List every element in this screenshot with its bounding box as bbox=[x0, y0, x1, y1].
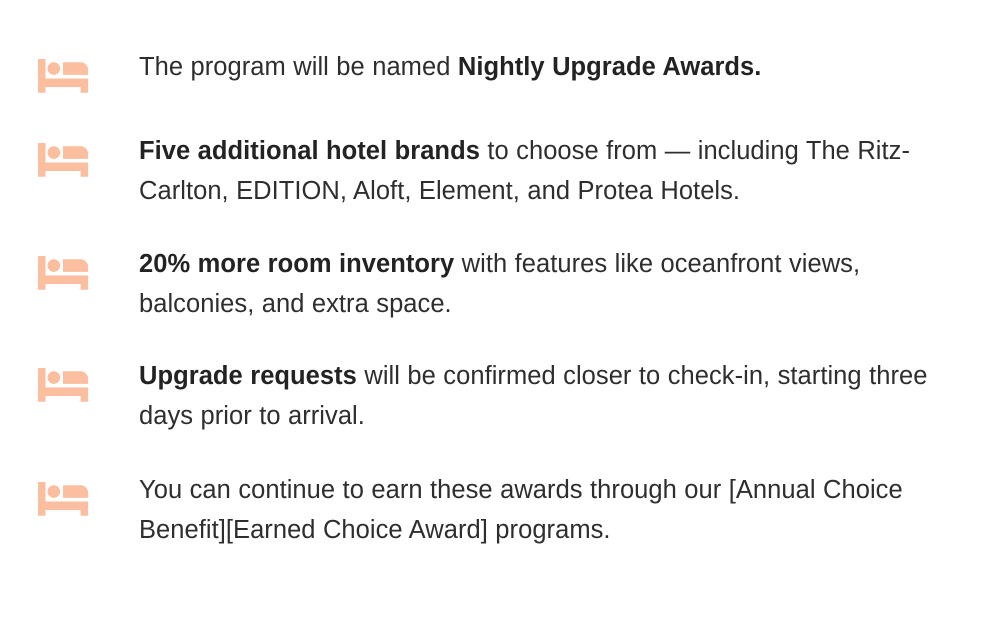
list-item-program-name: The program will be named Nightly Upgrad… bbox=[0, 47, 1000, 95]
bullet-text-earning-awards: You can continue to earn these awards th… bbox=[139, 470, 976, 550]
list-item-upgrade-requests: Upgrade requests will be confirmed close… bbox=[0, 356, 1000, 436]
bullet-emphasis: Upgrade requests bbox=[139, 362, 357, 390]
bullet-text-program-name: The program will be named Nightly Upgrad… bbox=[139, 47, 976, 87]
bed-icon bbox=[36, 366, 94, 404]
bullet-body: You can continue to earn these awards th… bbox=[139, 476, 903, 544]
bullet-emphasis: 20% more room inventory bbox=[139, 250, 454, 278]
list-item-room-inventory: 20% more room inventory with features li… bbox=[0, 244, 1000, 324]
bed-icon bbox=[36, 254, 94, 292]
list-item-earning-awards: You can continue to earn these awards th… bbox=[0, 470, 1000, 550]
bullet-text-room-inventory: 20% more room inventory with features li… bbox=[139, 244, 976, 324]
slide-canvas: The program will be named Nightly Upgrad… bbox=[0, 0, 1000, 621]
bullet-body: The program will be named bbox=[139, 53, 458, 81]
bullet-emphasis: Five additional hotel brands bbox=[139, 137, 480, 165]
bed-icon bbox=[36, 141, 94, 179]
bed-icon bbox=[36, 480, 94, 518]
bullet-list: The program will be named Nightly Upgrad… bbox=[0, 47, 1000, 550]
bed-icon bbox=[36, 57, 94, 95]
list-item-hotel-brands: Five additional hotel brands to choose f… bbox=[0, 131, 1000, 211]
bullet-text-upgrade-requests: Upgrade requests will be confirmed close… bbox=[139, 356, 976, 436]
bullet-text-hotel-brands: Five additional hotel brands to choose f… bbox=[139, 131, 976, 211]
bullet-emphasis: Nightly Upgrade Awards. bbox=[458, 53, 762, 81]
